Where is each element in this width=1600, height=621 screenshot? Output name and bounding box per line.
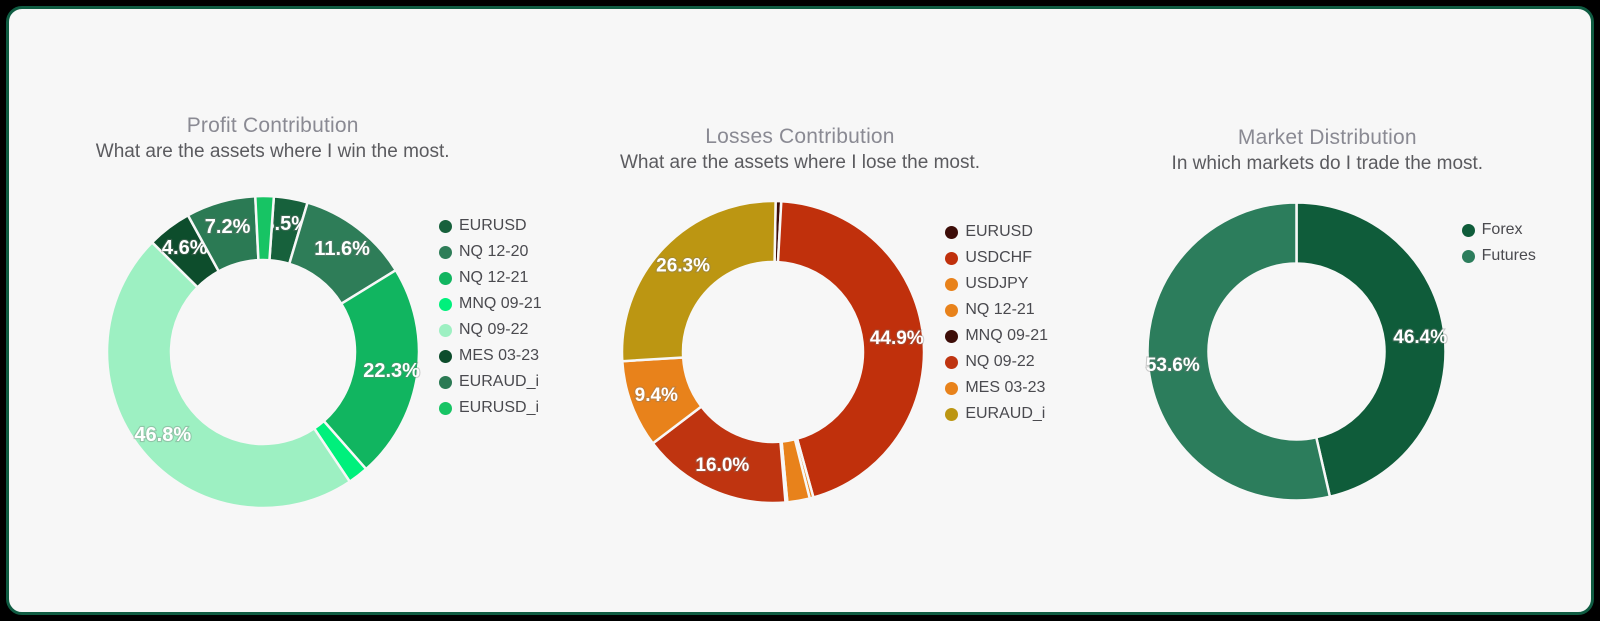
slice-percent-label: 11.6% bbox=[314, 238, 370, 260]
legend-color-dot-icon bbox=[945, 356, 958, 369]
legend-item[interactable]: NQ 12-21 bbox=[945, 297, 1048, 323]
legend-color-dot-icon bbox=[439, 272, 452, 285]
legend-item-label: Futures bbox=[1482, 247, 1536, 265]
donut-svg-market[interactable]: 46.4%53.6% bbox=[1144, 199, 1449, 504]
legend-color-dot-icon bbox=[439, 220, 452, 233]
donut-chart-market[interactable]: 46.4%53.6% bbox=[1144, 199, 1449, 504]
legend-item[interactable]: NQ 09-22 bbox=[439, 317, 542, 343]
legend-item-label: EURAUD_i bbox=[459, 373, 539, 391]
legend-market[interactable]: ForexFutures bbox=[1462, 217, 1536, 269]
legend-item[interactable]: EURAUD_i bbox=[439, 369, 542, 395]
legend-color-dot-icon bbox=[1462, 224, 1475, 237]
legend-item[interactable]: MES 03-23 bbox=[945, 375, 1048, 401]
legend-color-dot-icon bbox=[945, 304, 958, 317]
page-subtitle-losses: What are the assets where I lose the mos… bbox=[536, 150, 1063, 175]
slice-percent-label: 22.3% bbox=[363, 360, 420, 382]
slice-percent-label: 46.4% bbox=[1393, 327, 1447, 348]
legend-item-label: EURAUD_i bbox=[965, 405, 1045, 423]
donut-chart-losses[interactable]: 44.9%16.0%9.4%26.3% bbox=[618, 197, 928, 507]
charts-row: Profit Contribution What are the assets … bbox=[9, 9, 1591, 612]
donut-svg-losses[interactable]: 44.9%16.0%9.4%26.3% bbox=[618, 197, 928, 507]
donut-chart-profit[interactable]: 3.5%11.6%22.3%46.8%4.6%7.2% bbox=[103, 192, 423, 512]
legend-item[interactable]: Forex bbox=[1462, 217, 1536, 243]
dashboard-frame: Profit Contribution What are the assets … bbox=[6, 6, 1594, 615]
legend-item[interactable]: MNQ 09-21 bbox=[945, 323, 1048, 349]
legend-color-dot-icon bbox=[945, 382, 958, 395]
slice-percent-label: 7.2% bbox=[205, 216, 251, 238]
legend-item[interactable]: EURUSD bbox=[439, 213, 542, 239]
page-title-market: Market Distribution bbox=[1064, 125, 1591, 151]
legend-color-dot-icon bbox=[439, 350, 452, 363]
donut-svg-profit[interactable]: 3.5%11.6%22.3%46.8%4.6%7.2% bbox=[103, 192, 423, 512]
panel-losses-header: Losses Contribution What are the assets … bbox=[536, 124, 1063, 175]
legend-item[interactable]: Futures bbox=[1462, 243, 1536, 269]
legend-item[interactable]: NQ 12-21 bbox=[439, 265, 542, 291]
legend-color-dot-icon bbox=[945, 330, 958, 343]
legend-item[interactable]: USDJPY bbox=[945, 271, 1048, 297]
page-title-profit: Profit Contribution bbox=[9, 113, 536, 139]
legend-color-dot-icon bbox=[945, 226, 958, 239]
page-subtitle-profit: What are the assets where I win the most… bbox=[9, 139, 536, 164]
legend-item-label: EURUSD bbox=[459, 217, 527, 235]
legend-item-label: USDCHF bbox=[965, 249, 1032, 267]
legend-profit[interactable]: EURUSDNQ 12-20NQ 12-21MNQ 09-21NQ 09-22M… bbox=[439, 213, 542, 421]
legend-item-label: MNQ 09-21 bbox=[459, 295, 542, 313]
page-subtitle-market: In which markets do I trade the most. bbox=[1064, 151, 1591, 176]
legend-color-dot-icon bbox=[1462, 250, 1475, 263]
legend-item[interactable]: EURUSD_i bbox=[439, 395, 542, 421]
donut-slice[interactable] bbox=[622, 201, 776, 361]
legend-item-label: MNQ 09-21 bbox=[965, 327, 1048, 345]
slice-percent-label: 53.6% bbox=[1146, 355, 1200, 376]
legend-item[interactable]: MNQ 09-21 bbox=[439, 291, 542, 317]
legend-losses[interactable]: EURUSDUSDCHFUSDJPYNQ 12-21MNQ 09-21NQ 09… bbox=[945, 219, 1048, 427]
legend-color-dot-icon bbox=[439, 376, 452, 389]
legend-color-dot-icon bbox=[439, 402, 452, 415]
slice-percent-label: 44.9% bbox=[870, 328, 924, 349]
donut-slice[interactable] bbox=[107, 242, 350, 508]
slice-percent-label: 9.4% bbox=[635, 385, 678, 406]
legend-item[interactable]: EURUSD bbox=[945, 219, 1048, 245]
legend-item-label: NQ 09-22 bbox=[965, 353, 1034, 371]
legend-item-label: NQ 12-21 bbox=[965, 301, 1034, 319]
legend-item-label: Forex bbox=[1482, 221, 1523, 239]
legend-item[interactable]: USDCHF bbox=[945, 245, 1048, 271]
legend-color-dot-icon bbox=[439, 246, 452, 259]
panel-profit-contribution: Profit Contribution What are the assets … bbox=[9, 9, 536, 612]
legend-item[interactable]: NQ 12-20 bbox=[439, 239, 542, 265]
slice-percent-label: 16.0% bbox=[696, 455, 750, 476]
slice-percent-label: 26.3% bbox=[656, 255, 710, 276]
page-title-losses: Losses Contribution bbox=[536, 124, 1063, 150]
legend-item-label: NQ 12-20 bbox=[459, 243, 528, 261]
legend-item-label: MES 03-23 bbox=[459, 347, 539, 365]
legend-item-label: NQ 09-22 bbox=[459, 321, 528, 339]
panel-market-header: Market Distribution In which markets do … bbox=[1064, 125, 1591, 176]
legend-item-label: NQ 12-21 bbox=[459, 269, 528, 287]
legend-item-label: USDJPY bbox=[965, 275, 1028, 293]
legend-item-label: EURUSD bbox=[965, 223, 1033, 241]
donut-slice[interactable] bbox=[255, 196, 274, 260]
panel-profit-header: Profit Contribution What are the assets … bbox=[9, 113, 536, 164]
panel-market-distribution: Market Distribution In which markets do … bbox=[1064, 9, 1591, 612]
legend-item[interactable]: NQ 09-22 bbox=[945, 349, 1048, 375]
legend-color-dot-icon bbox=[945, 252, 958, 265]
legend-item[interactable]: EURAUD_i bbox=[945, 401, 1048, 427]
legend-color-dot-icon bbox=[945, 278, 958, 291]
legend-color-dot-icon bbox=[439, 324, 452, 337]
panel-losses-contribution: Losses Contribution What are the assets … bbox=[536, 9, 1063, 612]
legend-item[interactable]: MES 03-23 bbox=[439, 343, 542, 369]
legend-color-dot-icon bbox=[945, 408, 958, 421]
legend-color-dot-icon bbox=[439, 298, 452, 311]
legend-item-label: EURUSD_i bbox=[459, 399, 539, 417]
slice-percent-label: 46.8% bbox=[134, 424, 191, 446]
legend-item-label: MES 03-23 bbox=[965, 379, 1045, 397]
